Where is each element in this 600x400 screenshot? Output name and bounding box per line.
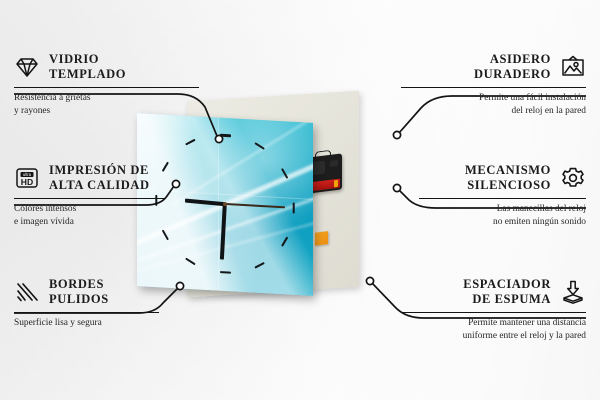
feature-rule — [14, 198, 164, 200]
feature-rule — [14, 312, 159, 314]
feature-title: BORDESPULIDOS — [49, 277, 109, 308]
feature-title: ASIDERODURADERO — [474, 52, 551, 83]
ultra-hd-icon: ultra HD — [14, 166, 40, 190]
second-hand — [225, 203, 285, 208]
endpoint-asidero — [393, 131, 400, 138]
clock-tick — [254, 262, 265, 269]
clock-center-hub — [223, 202, 227, 206]
product-photo — [131, 106, 356, 302]
feature-rule — [419, 198, 586, 200]
endpoint-mecanismo — [393, 184, 400, 191]
feature-desc: Permite mantener una distanciauniforme e… — [401, 317, 586, 342]
feature-title: VIDRIOTEMPLADO — [49, 52, 126, 83]
diamond-icon — [14, 55, 40, 79]
feature-bordes-pulidos: BORDESPULIDOS Superficie lisa y segura — [14, 277, 159, 330]
feature-desc: Permite una fácil instalacióndel reloj e… — [401, 92, 586, 117]
minute-hand — [220, 204, 227, 260]
gear-icon — [560, 166, 586, 190]
diagonal-lines-icon — [14, 280, 40, 304]
hour-hand — [185, 198, 225, 206]
feature-impresion-alta-calidad: ultra HD IMPRESIÓN DEALTA CALIDAD Colore… — [14, 163, 164, 228]
arrow-onto-stack-icon — [560, 280, 586, 304]
hanging-frame-icon — [560, 55, 586, 79]
clock-tick — [292, 202, 294, 213]
infographic-canvas: VIDRIOTEMPLADO Resistencia a grietasy ra… — [0, 0, 600, 400]
feature-title: MECANISMOSILENCIOSO — [465, 163, 551, 194]
feature-rule — [401, 312, 586, 314]
feature-desc: Colores intensose imagen vívida — [14, 203, 164, 228]
endpoint-espaciador — [366, 277, 373, 284]
feature-desc: Las manecillas del relojno emiten ningún… — [419, 203, 586, 228]
feature-espaciador-de-espuma: ESPACIADORDE ESPUMA Permite mantener una… — [401, 277, 586, 342]
feature-title: IMPRESIÓN DEALTA CALIDAD — [49, 163, 150, 194]
clock-tick — [185, 257, 196, 265]
clock-tick — [220, 134, 231, 137]
clock-tick — [220, 271, 231, 274]
feature-mecanismo-silencioso: MECANISMOSILENCIOSO Las manecillas del r… — [419, 163, 586, 228]
feature-title: ESPACIADORDE ESPUMA — [463, 277, 551, 308]
feature-desc: Superficie lisa y segura — [14, 317, 159, 329]
feature-vidrio-templado: VIDRIOTEMPLADO Resistencia a grietasy ra… — [14, 52, 199, 117]
feature-desc: Resistencia a grietasy rayones — [14, 92, 199, 117]
svg-text:HD: HD — [21, 177, 33, 187]
feature-asidero-duradero: ASIDERODURADERO Permite una fácil instal… — [401, 52, 586, 117]
clock-tick — [281, 236, 289, 247]
feature-rule — [401, 87, 586, 89]
feature-rule — [14, 87, 199, 89]
foam-spacer-pad — [315, 231, 328, 246]
